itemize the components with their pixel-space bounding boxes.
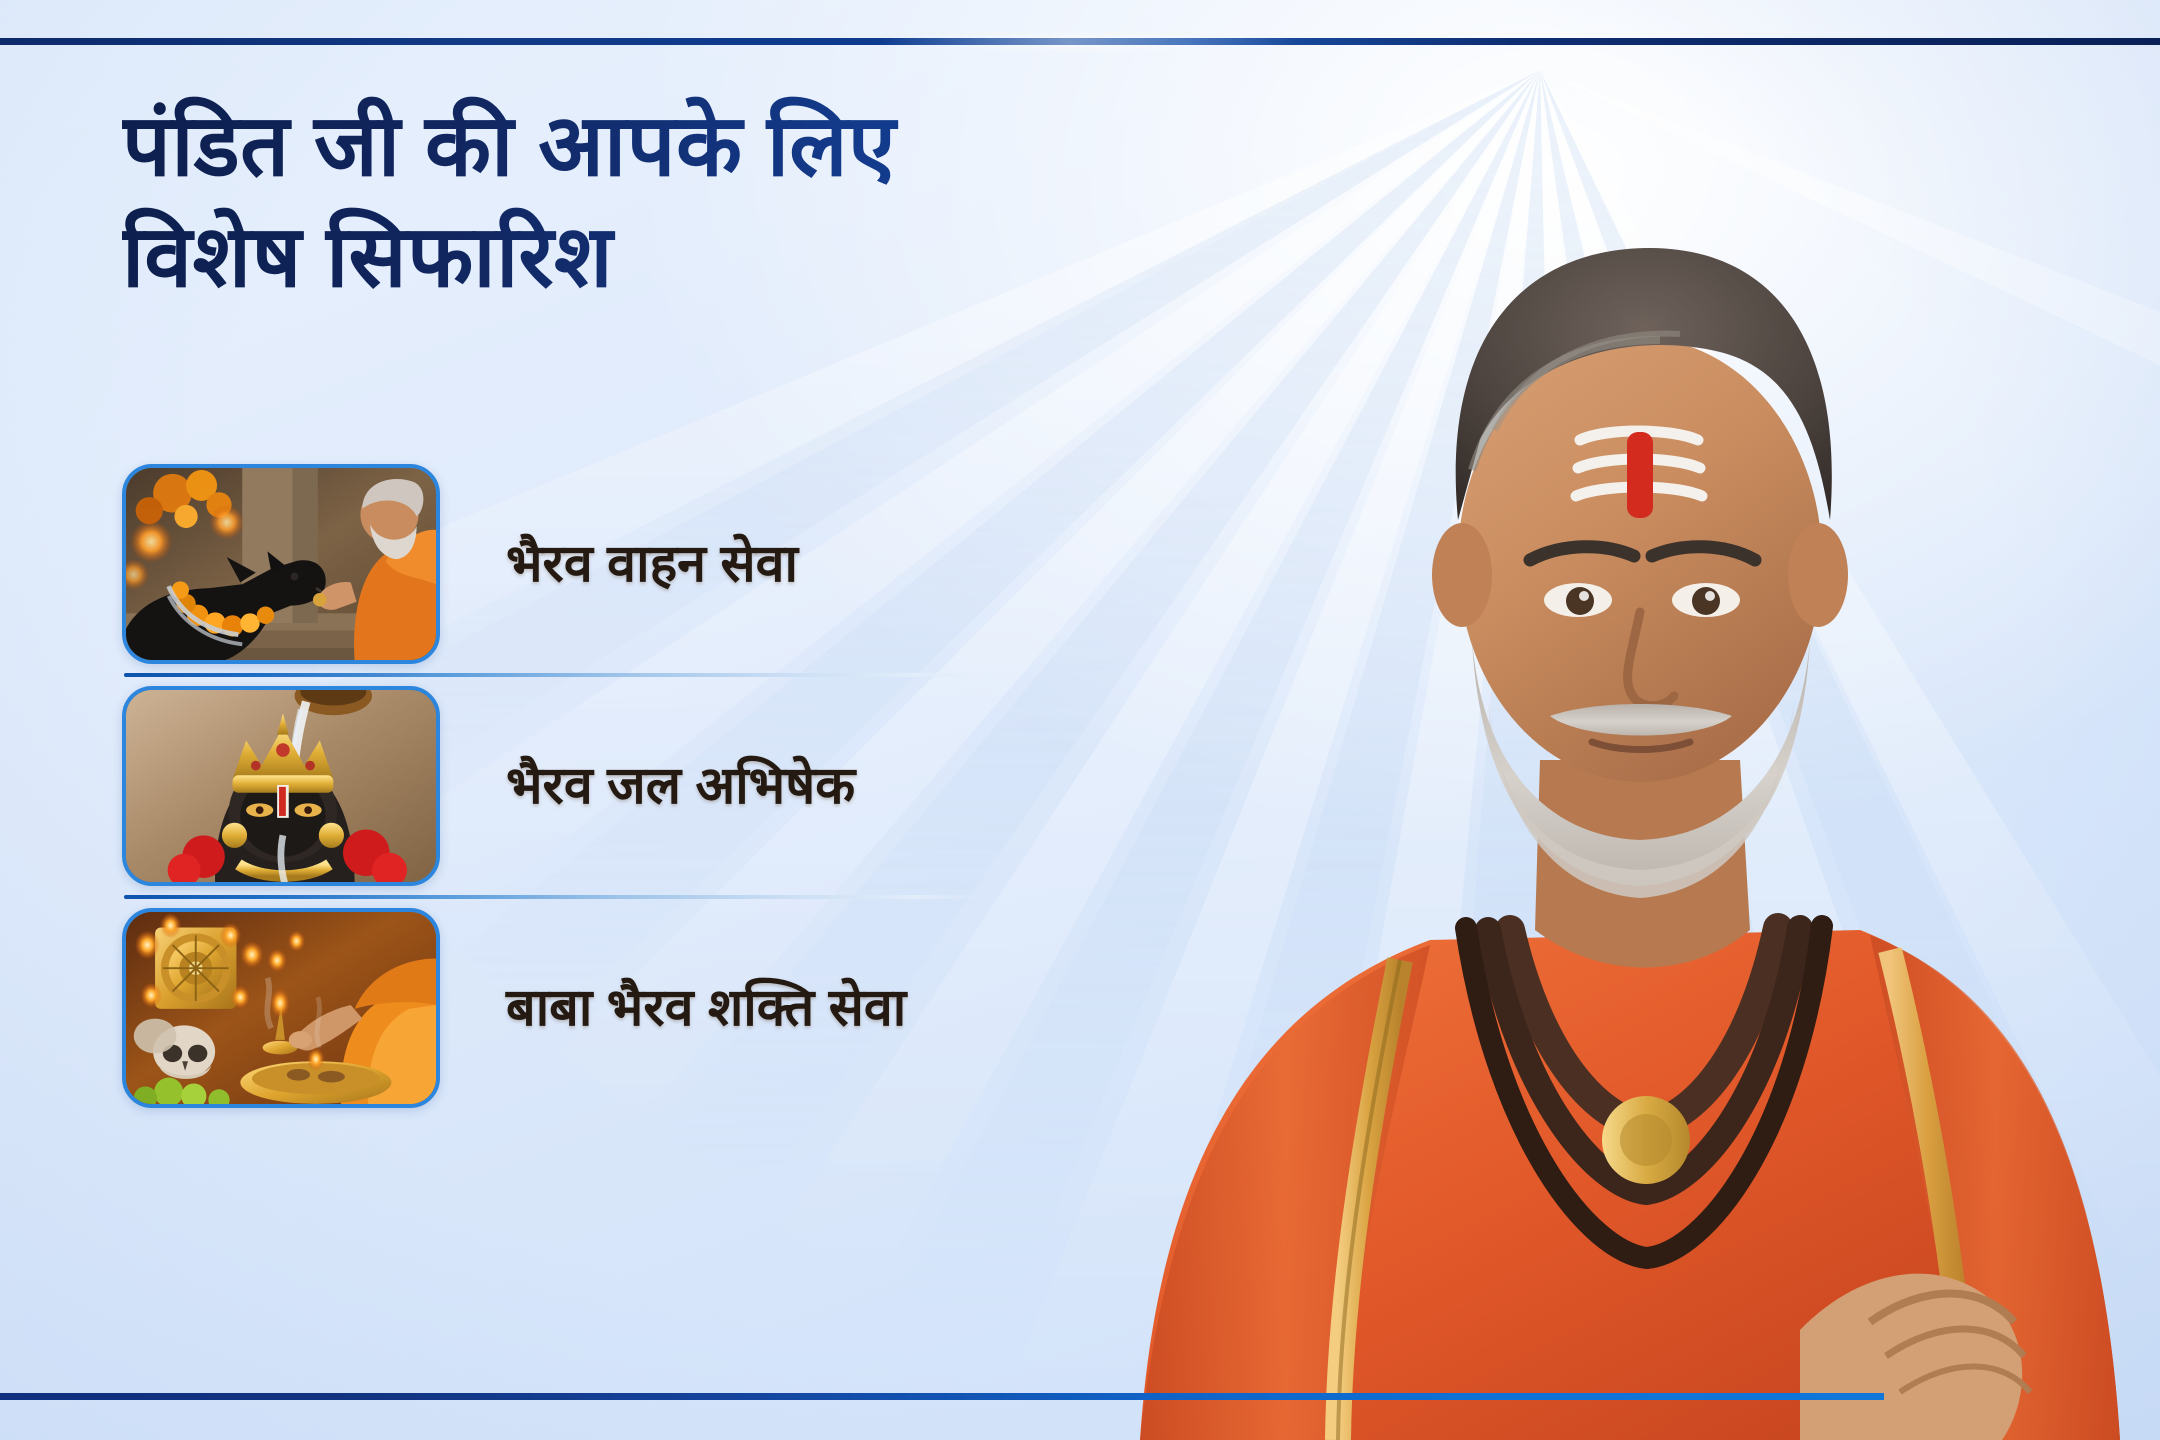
service-label: भैरव वाहन सेवा (506, 533, 798, 595)
service-label: भैरव जल अभिषेक (506, 755, 855, 817)
service-list-item[interactable]: भैरव वाहन सेवा (122, 455, 1002, 673)
page-title-line-2: विशेष सिफारिश (122, 206, 1302, 309)
service-list-item[interactable]: बाबा भैरव शक्ति सेवा (122, 899, 1002, 1117)
thumbnail-bhairav-jal-abhishek[interactable] (122, 686, 440, 886)
promo-banner: पंडित जी की आपके लिए विशेष सिफारिश (0, 0, 2160, 1440)
thumbnail-baba-bhairav-shakti-seva[interactable] (122, 908, 440, 1108)
service-label: बाबा भैरव शक्ति सेवा (506, 977, 906, 1039)
service-list: भैरव वाहन सेवा (122, 455, 1002, 1117)
top-bar-highlight (880, 34, 1300, 50)
thumbnail-bhairav-vahan-dog[interactable] (122, 464, 440, 664)
page-title: पंडित जी की आपके लिए विशेष सिफारिश (122, 95, 1302, 309)
page-title-line-1: पंडित जी की आपके लिए (122, 95, 1302, 198)
bottom-blue-line (0, 1393, 1884, 1400)
service-list-item[interactable]: भैरव जल अभिषेक (122, 677, 1002, 895)
